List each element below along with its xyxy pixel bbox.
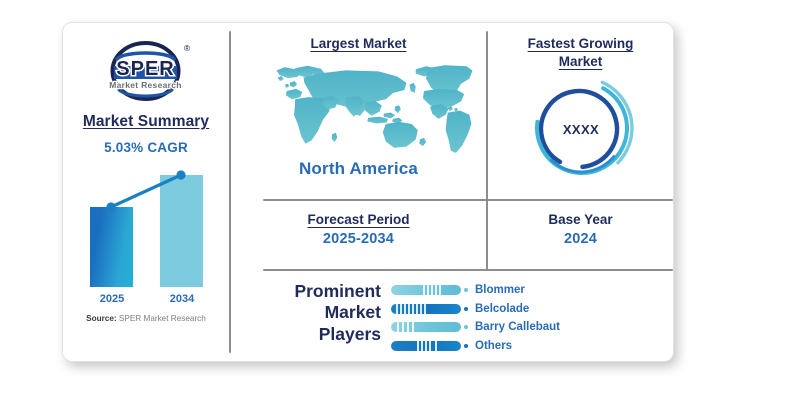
forecast-period-heading: Forecast Period [231,211,486,229]
market-size-bar-chart: 2025 2034 Source: SPER Market Research [63,163,229,323]
infographic-canvas: SPER Market Research ® Market Summary 5.… [0,0,800,400]
list-item: Barry Callebaut [391,318,671,337]
fastest-growing-heading: Fastest Growing Market [488,35,673,71]
base-year-value: 2024 [488,231,673,247]
svg-text:SPER: SPER [116,58,174,80]
player-dot-icon [464,344,468,348]
player-bar-icon [391,285,461,295]
base-year-heading: Base Year [488,211,673,229]
player-name: Blommer [475,284,525,296]
growth-ring-graphic: XXXX [525,73,637,185]
list-item: Blommer [391,281,671,300]
players-title-line2: Market [325,302,381,322]
player-name: Belcolade [475,303,529,315]
axis-label-2025: 2025 [87,293,137,305]
source-prefix: Source: [86,314,116,323]
players-title-line1: Prominent [294,281,381,301]
player-bar-icon [391,304,461,314]
world-map [245,59,473,157]
prominent-players-list: Blommer Belcolade [391,281,671,355]
left-panel: SPER Market Research ® Market Summary 5.… [63,23,229,361]
fastest-growing-value: XXXX [525,73,637,185]
largest-market-heading: Largest Market [231,35,486,53]
source-name: SPER Market Research [119,314,206,323]
chart-source: Source: SPER Market Research [63,314,229,323]
axis-label-2034: 2034 [157,293,207,305]
fastest-growing-heading-line2: Market [559,54,603,69]
player-bar-icon [391,341,461,351]
player-dot-icon [464,288,468,292]
fastest-growing-market-cell: Fastest Growing Market XXXX [488,23,673,199]
svg-text:Market Research: Market Research [109,80,182,90]
player-dot-icon [464,325,468,329]
svg-text:®: ® [184,43,191,53]
players-title-line3: Players [319,324,381,344]
prominent-players-title: Prominent Market Players [231,281,381,345]
list-item: Belcolade [391,300,671,319]
sper-logo: SPER Market Research ® [93,37,203,107]
cagr-value: 5.03% CAGR [63,140,229,155]
largest-market-value: North America [231,159,486,179]
forecast-period-cell: Forecast Period 2025-2034 [231,201,486,269]
market-summary-card: SPER Market Research ® Market Summary 5.… [62,22,674,362]
player-bar-icon [391,322,461,332]
forecast-period-value: 2025-2034 [231,231,486,247]
list-item: Others [391,337,671,356]
prominent-players-section: Prominent Market Players Blommer [231,271,673,361]
player-name: Barry Callebaut [475,321,560,333]
fastest-growing-heading-line1: Fastest Growing [528,36,634,51]
player-name: Others [475,340,512,352]
market-summary-title: Market Summary [63,113,229,131]
player-dot-icon [464,307,468,311]
largest-market-cell: Largest Market [231,23,486,199]
base-year-cell: Base Year 2024 [488,201,673,269]
